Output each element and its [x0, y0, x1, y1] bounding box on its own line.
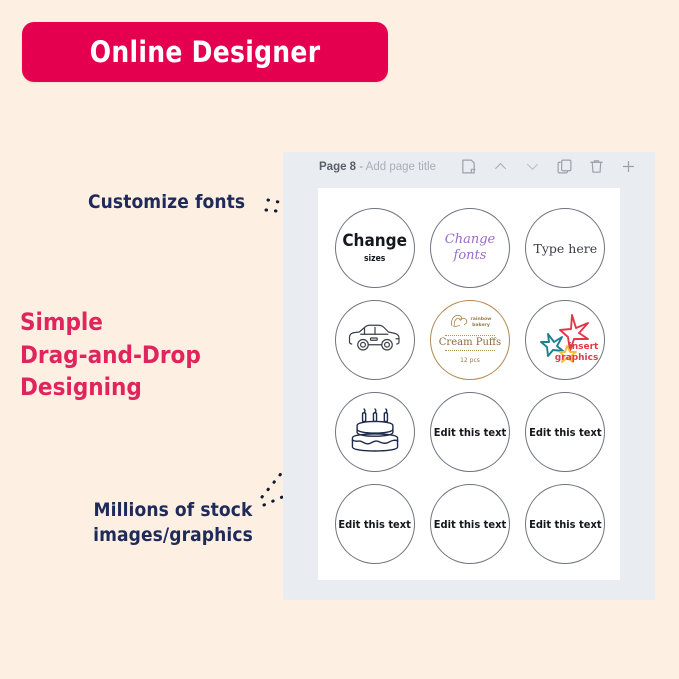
insert-graphics-line-2: graphics: [555, 353, 599, 363]
cream-puff-logo-icon: [449, 313, 469, 333]
callout-customize-fonts-label: Customize fonts: [88, 191, 245, 213]
page-label-separator: -: [356, 161, 366, 173]
trash-icon[interactable]: [588, 158, 605, 175]
sticker-cake-graphic[interactable]: [335, 392, 415, 472]
bakery-brand-line-2: bakery: [472, 323, 490, 328]
sticker-car-graphic[interactable]: [335, 300, 415, 380]
note-icon[interactable]: [460, 158, 477, 175]
grid-cell: Type here: [518, 202, 613, 294]
sticker-edit-text-label: Edit this text: [529, 518, 601, 531]
bakery-divider-top: [445, 335, 495, 336]
sticker-text-change: Change: [342, 233, 407, 250]
sticker-edit-text[interactable]: Edit this text: [430, 484, 510, 564]
sticker-insert-graphics[interactable]: insert graphics: [525, 300, 605, 380]
insert-graphics-line-1: insert: [555, 342, 599, 352]
grid-cell: Edit this text: [518, 478, 613, 570]
editor-panel: Page 8 - Add page title: [283, 152, 655, 600]
tagline-line-1: Simple: [20, 306, 260, 339]
page-title-pill: Online Designer: [22, 22, 388, 82]
toolbar-icon-group: [460, 158, 637, 175]
grid-cell: Change fonts: [422, 202, 517, 294]
chevron-up-icon[interactable]: [492, 158, 509, 175]
page-title: Online Designer: [90, 35, 321, 69]
page-canvas[interactable]: Change sizes Change fonts Type here: [318, 188, 620, 580]
sticker-edit-text-label: Edit this text: [434, 426, 506, 439]
grid-cell: insert graphics: [518, 294, 613, 386]
tagline-line-2: Drag-and-Drop: [20, 339, 260, 372]
grid-cell: Edit this text: [422, 478, 517, 570]
sticker-text-sizes: sizes: [364, 255, 385, 264]
birthday-cake-icon: [347, 405, 403, 460]
bakery-divider-bottom: [445, 350, 495, 351]
poster-stage: Online Designer Customize fonts Simple D…: [0, 0, 679, 679]
page-title-placeholder[interactable]: Add page title: [366, 161, 436, 173]
sticker-text-fonts: fonts: [454, 248, 487, 264]
sticker-grid: Change sizes Change fonts Type here: [327, 202, 613, 570]
tagline-line-3: Designing: [20, 371, 260, 404]
callout-customize-fonts: Customize fonts: [88, 190, 245, 215]
sticker-edit-text[interactable]: Edit this text: [430, 392, 510, 472]
grid-cell: [327, 386, 422, 478]
sticker-edit-text[interactable]: Edit this text: [335, 484, 415, 564]
grid-cell: Edit this text: [327, 478, 422, 570]
bakery-product-name: Cream Puffs: [439, 338, 501, 348]
duplicate-icon[interactable]: [556, 158, 573, 175]
sticker-change-fonts[interactable]: Change fonts: [430, 208, 510, 288]
sticker-type-here[interactable]: Type here: [525, 208, 605, 288]
grid-cell: Edit this text: [422, 386, 517, 478]
grid-cell: Change sizes: [327, 202, 422, 294]
page-number-label: Page 8: [319, 161, 356, 173]
callout-stock-images-line-2: images/graphics: [85, 523, 261, 548]
bakery-quantity: 12 pcs: [460, 357, 480, 364]
sticker-text-change: Change: [445, 232, 495, 248]
editor-toolbar: Page 8 - Add page title: [283, 152, 655, 188]
grid-cell: Edit this text: [518, 386, 613, 478]
sticker-edit-text[interactable]: Edit this text: [525, 392, 605, 472]
plus-icon[interactable]: [620, 158, 637, 175]
star-cluster: [526, 301, 605, 380]
sticker-change-sizes[interactable]: Change sizes: [335, 208, 415, 288]
car-icon: [348, 321, 402, 360]
chevron-down-icon[interactable]: [524, 158, 541, 175]
sticker-edit-text[interactable]: Edit this text: [525, 484, 605, 564]
grid-cell: [327, 294, 422, 386]
tagline: Simple Drag-and-Drop Designing: [20, 306, 260, 404]
bakery-brand-line-1: rainbow: [471, 317, 492, 322]
grid-cell: rainbow bakery Cream Puffs 12 pcs: [422, 294, 517, 386]
sticker-text-type-here: Type here: [534, 241, 598, 256]
sticker-bakery-label[interactable]: rainbow bakery Cream Puffs 12 pcs: [430, 300, 510, 380]
page-label[interactable]: Page 8 - Add page title: [319, 161, 436, 173]
callout-stock-images: Millions of stock images/graphics: [85, 498, 261, 548]
bakery-brand: rainbow bakery: [471, 317, 492, 328]
callout-stock-images-line-1: Millions of stock: [85, 498, 261, 523]
sticker-edit-text-label: Edit this text: [434, 518, 506, 531]
sticker-insert-graphics-text: insert graphics: [555, 342, 599, 363]
sticker-edit-text-label: Edit this text: [529, 426, 601, 439]
sticker-edit-text-label: Edit this text: [338, 518, 410, 531]
